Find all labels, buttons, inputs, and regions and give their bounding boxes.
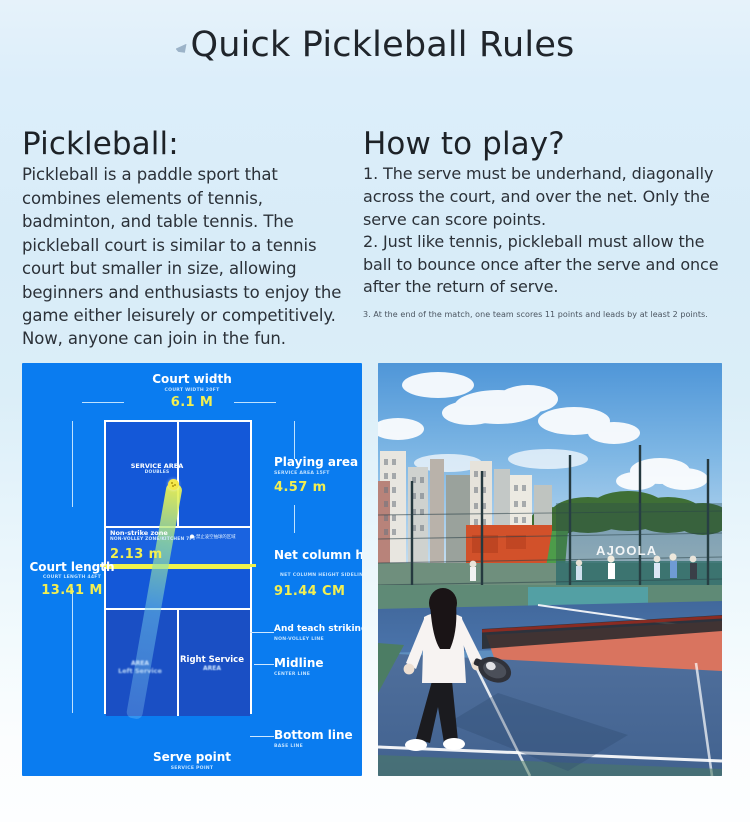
rule-item-2: 2. Just like tennis, pickleball must all…: [363, 231, 730, 299]
court-net-band: [100, 564, 256, 567]
poster-page: Quick Pickleball Rules Pickleball: Pickl…: [0, 0, 750, 822]
text-columns: Pickleball: Pickleball is a paddle sport…: [0, 128, 750, 351]
court-photo: Outdoor pickleball court with a player h…: [378, 363, 722, 776]
non-volley-line-title: And teach striking line: [274, 625, 362, 634]
bottom-line-leader: [250, 736, 274, 737]
non-volley-line-leader: [250, 632, 274, 633]
court-photo-illustration: AJOOLA: [378, 363, 722, 776]
court-width-title: Court width: [22, 373, 362, 386]
non-volley-zone-value: 2.13 m: [110, 547, 163, 562]
serve-point-subtitle: SERVICE POINT: [22, 766, 362, 771]
net-column-height-title: Net column height: [274, 549, 358, 563]
pickleball-definition-column: Pickleball: Pickleball is a paddle sport…: [0, 128, 355, 351]
right-service-area-label: Right Service AREA: [179, 655, 245, 672]
top-service-area-label: SERVICE AREA DOUBLES: [122, 463, 192, 476]
fence-banner-text: AJOOLA: [596, 543, 657, 558]
non-volley-zone-label: Non-strike zone NON-VOLLEY ZONE/KITCHEN …: [110, 530, 162, 543]
court-length-dim-line-lower: [72, 588, 73, 713]
bottom-line-title: Bottom line: [274, 729, 353, 742]
court-length-dim-line-upper: [72, 421, 73, 507]
midline-subtitle: CENTER LINE: [274, 672, 310, 677]
court-length-subtitle: COURT LENGTH 44FT: [26, 575, 118, 580]
media-row: Court width COURT WIDTH 20FT 6.1 M: [22, 363, 730, 776]
midline-title: Midline: [274, 657, 324, 670]
court-zone-bottom-kitchen: [106, 569, 250, 610]
serve-point-title: Serve point: [22, 751, 362, 764]
pickleball-ball-icon: [168, 479, 179, 490]
pickleball-description: Pickleball is a paddle sport that combin…: [22, 163, 355, 350]
playing-area-dim-line-upper: [294, 421, 295, 459]
left-service-area-label: AREA Left Service: [110, 660, 170, 675]
playing-area-title: Playing area: [274, 456, 358, 469]
court-width-value: 6.1 M: [22, 395, 362, 410]
how-to-play-heading: How to play?: [363, 128, 730, 161]
page-title-row: Quick Pickleball Rules: [0, 26, 750, 65]
net-column-height-subtitle: NET COLUMN HEIGHT SIDELINE 36IN: [280, 573, 362, 578]
court-width-subtitle: COURT WIDTH 20FT: [22, 388, 362, 393]
pickleball-heading: Pickleball:: [22, 128, 355, 161]
how-to-play-column: How to play? 1. The serve must be underh…: [355, 128, 730, 351]
court-length-value: 13.41 M: [26, 583, 118, 598]
bottom-line-subtitle: BASE LINE: [274, 744, 303, 749]
kitchen-note: 禁止凌空抽球的区域: [190, 534, 236, 540]
page-title: Quick Pickleball Rules: [191, 26, 575, 65]
court-length-title: Court length: [26, 561, 118, 574]
court-diagram: Court width COURT WIDTH 20FT 6.1 M: [22, 363, 362, 776]
midline-leader: [254, 664, 274, 665]
arrow-cursor-icon: [176, 44, 187, 53]
playing-area-subtitle: SERVICE AREA 15FT: [274, 471, 330, 476]
non-volley-line-subtitle: NON-VOLLEY LINE: [274, 637, 324, 642]
bullet-dot-icon: [190, 535, 194, 539]
playing-area-dim-line-lower: [294, 505, 295, 533]
net-column-height-value: 91.44 CM: [274, 584, 345, 599]
playing-area-value: 4.57 m: [274, 480, 327, 495]
rule-item-1: 1. The serve must be underhand, diagonal…: [363, 163, 730, 231]
rule-item-3: 3. At the end of the match, one team sco…: [363, 310, 730, 320]
